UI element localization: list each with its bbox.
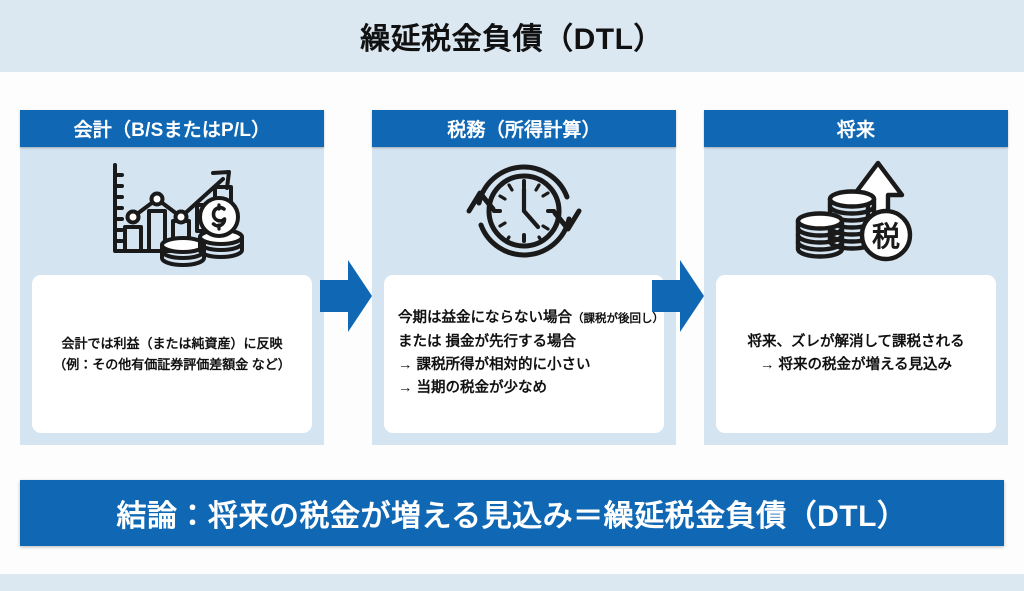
diagram-stage: 会計（B/SまたはP/L） [0,72,1024,574]
bar-chart-coins-growth-icon [20,147,324,275]
column-accounting-line-1: 会計では利益（または純資産）に反映 [46,333,298,354]
clock-rotating-arrows-icon [372,147,676,275]
tax-badge-label: 税 [872,220,900,252]
column-accounting-card: 会計では利益（または純資産）に反映 （例：その他有価証券評価差額金 など） [32,275,312,433]
column-accounting-header-label: 会計（B/SまたはP/L） [74,115,271,142]
column-future-line-1: 将来、ズレが解消して課税される [730,331,982,354]
title-band: 繰延税金負債（DTL） [0,0,1024,72]
columns-container: 会計（B/SまたはP/L） [20,110,1004,445]
column-tax-line-4: → 当期の税金が少なめ [398,377,650,400]
column-tax-header: 税務（所得計算） [372,110,676,147]
column-tax-line-1-main: 今期は益金にならない場合 [398,310,572,326]
column-future-card: 将来、ズレが解消して課税される → 将来の税金が増える見込み [716,275,996,433]
column-tax-line-2: または 損金が先行する場合 [398,331,650,354]
column-tax-header-label: 税務（所得計算） [447,115,601,142]
column-tax-line-1: 今期は益金にならない場合（課税が後回し） [398,307,650,330]
arrow-accounting-to-tax [320,258,372,334]
conclusion-text: 結論：将来の税金が増える見込み＝繰延税金負債（DTL） [117,491,908,535]
column-accounting-line-2: （例：その他有価証券評価差額金 など） [46,354,298,375]
conclusion-banner: 結論：将来の税金が増える見込み＝繰延税金負債（DTL） [20,480,1004,546]
column-future: 将来 [704,110,1008,445]
column-tax: 税務（所得計算） [372,110,676,445]
column-tax-line-3: → 課税所得が相対的に小さい [398,354,650,377]
column-tax-card: 今期は益金にならない場合（課税が後回し） または 損金が先行する場合 → 課税所… [384,275,664,433]
column-tax-line-1-note: （課税が後回し） [572,313,664,325]
arrow-tax-to-future [652,258,704,334]
page-title: 繰延税金負債（DTL） [360,14,664,58]
column-future-line-2: → 将来の税金が増える見込み [730,354,982,377]
column-accounting: 会計（B/SまたはP/L） [20,110,324,445]
column-future-header: 将来 [704,110,1008,147]
column-future-header-label: 将来 [837,115,875,142]
bottom-strip [0,574,1024,591]
column-accounting-header: 会計（B/SまたはP/L） [20,110,324,147]
coins-up-arrow-tax-icon: 税 [704,147,1008,275]
